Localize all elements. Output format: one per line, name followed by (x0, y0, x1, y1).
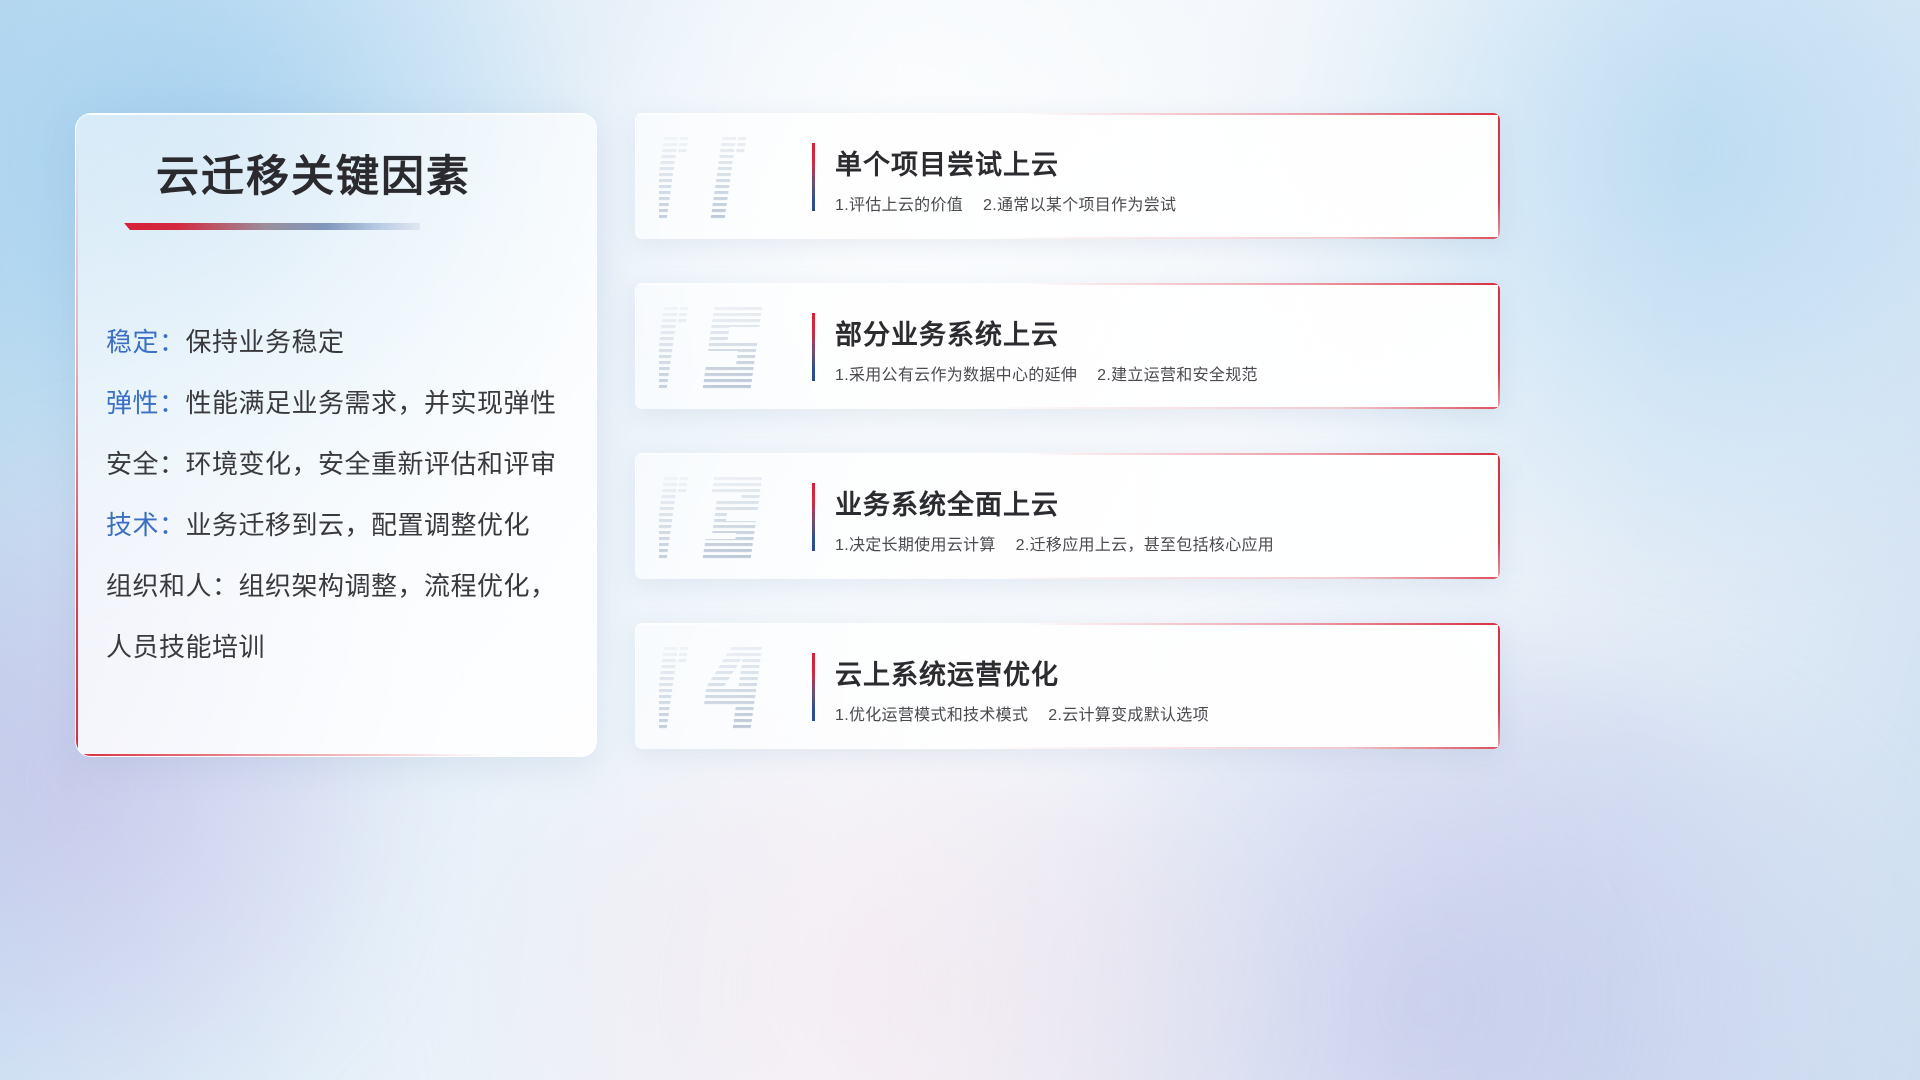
card-top-accent (635, 283, 1500, 285)
slide-canvas: 云迁移关键因素 稳定：保持业务稳定 弹性：性能满足业务需求，并实现弹性 安全：环… (0, 0, 1920, 1080)
stage-description: 1.优化运营模式和技术模式2.云计算变成默认选项 (835, 701, 1209, 725)
card-left-edge (635, 453, 636, 579)
stage-description: 1.评估上云的价值2.通常以某个项目作为尝试 (835, 191, 1176, 215)
stage-description: 1.采用公有云作为数据中心的延伸2.建立运营和安全规范 (835, 361, 1258, 385)
card-bottom-accent (635, 237, 1500, 239)
stage-description: 1.决定长期使用云计算2.迁移应用上云，甚至包括核心应用 (835, 531, 1274, 555)
card-divider-bar (812, 483, 815, 551)
panel-left-accent (76, 114, 78, 756)
card-left-edge (635, 283, 636, 409)
page-title: 云迁移关键因素 (156, 142, 471, 204)
stage-card[interactable]: 云上系统运营优化 1.优化运营模式和技术模式2.云计算变成默认选项 (635, 623, 1500, 749)
list-item-text: 组织架构调整，流程优化， (239, 571, 557, 601)
list-item: 安全：环境变化，安全重新评估和评审 (106, 434, 576, 495)
stage-point: 2.建立运营和安全规范 (1097, 367, 1258, 384)
card-right-accent (1498, 453, 1500, 579)
list-item: 人员技能培训 (106, 617, 576, 678)
list-item-label: 技术： (106, 510, 186, 540)
stage-title: 单个项目尝试上云 (835, 143, 1059, 182)
stage-card[interactable]: 单个项目尝试上云 1.评估上云的价值2.通常以某个项目作为尝试 (635, 113, 1500, 239)
card-right-accent (1498, 113, 1500, 239)
card-left-edge (635, 113, 636, 239)
list-item-text: 保持业务稳定 (186, 327, 345, 357)
stage-point: 2.迁移应用上云，甚至包括核心应用 (1016, 537, 1274, 554)
list-item-label: 安全： (106, 449, 186, 479)
stage-title: 云上系统运营优化 (835, 653, 1059, 692)
list-item-label: 组织和人： (106, 571, 239, 601)
card-top-accent (635, 113, 1500, 115)
card-bottom-accent (635, 747, 1500, 749)
stage-card[interactable]: 业务系统全面上云 1.决定长期使用云计算2.迁移应用上云，甚至包括核心应用 (635, 453, 1500, 579)
panel-top-edge (76, 114, 596, 115)
card-divider-bar (812, 653, 815, 721)
stage-card-list: 单个项目尝试上云 1.评估上云的价值2.通常以某个项目作为尝试 (635, 113, 1500, 793)
card-right-accent (1498, 623, 1500, 749)
list-item-text: 业务迁移到云，配置调整优化 (186, 510, 531, 540)
list-item-label: 稳定： (106, 327, 186, 357)
list-item-label: 弹性： (106, 388, 186, 418)
stage-point: 2.云计算变成默认选项 (1048, 707, 1209, 724)
list-item-text: 环境变化，安全重新评估和评审 (186, 449, 557, 479)
stage-card[interactable]: 部分业务系统上云 1.采用公有云作为数据中心的延伸2.建立运营和安全规范 (635, 283, 1500, 409)
list-item-text: 人员技能培训 (106, 632, 265, 662)
stage-point: 2.通常以某个项目作为尝试 (983, 197, 1176, 214)
card-top-accent (635, 623, 1500, 625)
card-divider-bar (812, 313, 815, 381)
card-bottom-accent (635, 407, 1500, 409)
card-bottom-accent (635, 577, 1500, 579)
key-factors-list: 稳定：保持业务稳定 弹性：性能满足业务需求，并实现弹性 安全：环境变化，安全重新… (106, 312, 576, 678)
stage-number-striped-01 (659, 131, 799, 223)
stage-number-striped-02 (659, 301, 799, 393)
card-divider-bar (812, 143, 815, 211)
stage-point: 1.决定长期使用云计算 (835, 537, 996, 554)
card-left-edge (635, 623, 636, 749)
stage-number-striped-03 (659, 471, 799, 563)
stage-point: 1.优化运营模式和技术模式 (835, 707, 1028, 724)
stage-point: 1.采用公有云作为数据中心的延伸 (835, 367, 1077, 384)
stage-title: 部分业务系统上云 (835, 313, 1059, 352)
panel-bottom-accent (76, 754, 596, 756)
card-top-accent (635, 453, 1500, 455)
stage-title: 业务系统全面上云 (835, 483, 1059, 522)
stage-point: 1.评估上云的价值 (835, 197, 963, 214)
title-underline-gradient (124, 223, 420, 230)
list-item: 技术：业务迁移到云，配置调整优化 (106, 495, 576, 556)
list-item-text: 性能满足业务需求，并实现弹性 (186, 388, 557, 418)
list-item: 稳定：保持业务稳定 (106, 312, 576, 373)
card-right-accent (1498, 283, 1500, 409)
stage-number-striped-04 (659, 641, 799, 733)
list-item: 组织和人：组织架构调整，流程优化， (106, 556, 576, 617)
list-item: 弹性：性能满足业务需求，并实现弹性 (106, 373, 576, 434)
